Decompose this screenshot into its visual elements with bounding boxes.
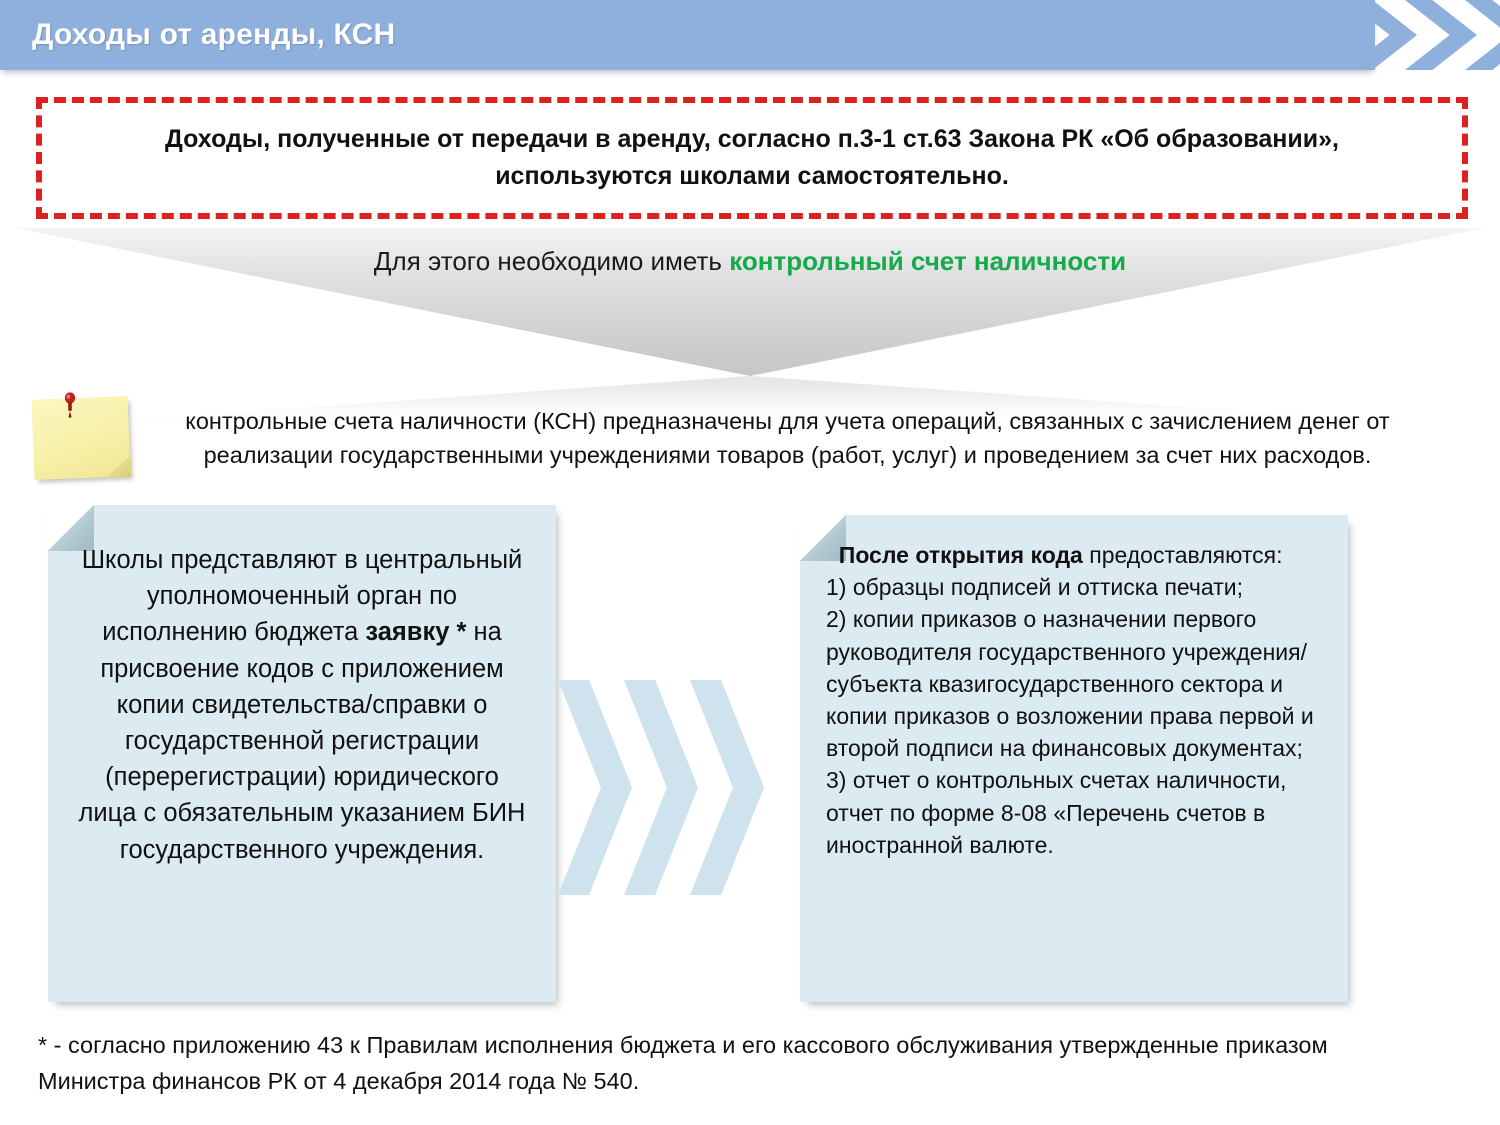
- info-box-right-text: После открытия кода предоставляются: 1) …: [800, 515, 1348, 861]
- left-text-part-2: на присвоение кодов с приложением копии …: [79, 618, 526, 863]
- right-heading-line: После открытия кода предоставляются:: [826, 539, 1326, 571]
- list-item: 1) образцы подписей и оттиска печати;: [826, 571, 1326, 603]
- right-text-bold: После открытия кода: [839, 542, 1083, 568]
- red-callout-text: Доходы, полученные от передачи в аренду,…: [42, 121, 1462, 196]
- list-item: 3) отчет о контрольных счетах наличности…: [826, 764, 1326, 861]
- sticky-note-icon: [31, 396, 130, 480]
- right-text-after-bold: предоставляются:: [1083, 542, 1283, 568]
- triangle-accent-text: контрольный счет наличности: [729, 246, 1126, 276]
- triangle-banner-text: Для этого необходимо иметь контрольный с…: [0, 246, 1500, 277]
- grey-triangle-banner: Для этого необходимо иметь контрольный с…: [0, 228, 1500, 378]
- slide-canvas: Доходы от аренды, КСН Доходы, полученные…: [0, 0, 1500, 1125]
- sticky-note-curl: [105, 455, 132, 478]
- footnote-text: * - согласно приложению 43 к Правилам ис…: [38, 1028, 1338, 1099]
- pushpin-icon: [61, 392, 79, 418]
- flow-chevron-icon: [690, 680, 764, 895]
- info-box-left: Школы представляют в центральный уполном…: [48, 505, 556, 1002]
- triangle-lead-text: Для этого необходимо иметь: [374, 246, 729, 276]
- red-dashed-callout: Доходы, полученные от передачи в аренду,…: [36, 97, 1468, 219]
- list-item: 2) копии приказов о назначении первого р…: [826, 603, 1326, 764]
- page-title: Доходы от аренды, КСН: [32, 18, 395, 52]
- header-bar: Доходы от аренды, КСН: [0, 0, 1375, 70]
- info-box-right: После открытия кода предоставляются: 1) …: [800, 515, 1348, 1002]
- info-box-left-text: Школы представляют в центральный уполном…: [48, 505, 556, 868]
- note-paragraph-text: контрольные счета наличности (КСН) предн…: [150, 404, 1425, 472]
- left-text-bold: заявку *: [365, 618, 466, 646]
- flow-chevron-icon: [558, 680, 632, 895]
- flow-chevron-icon: [624, 680, 698, 895]
